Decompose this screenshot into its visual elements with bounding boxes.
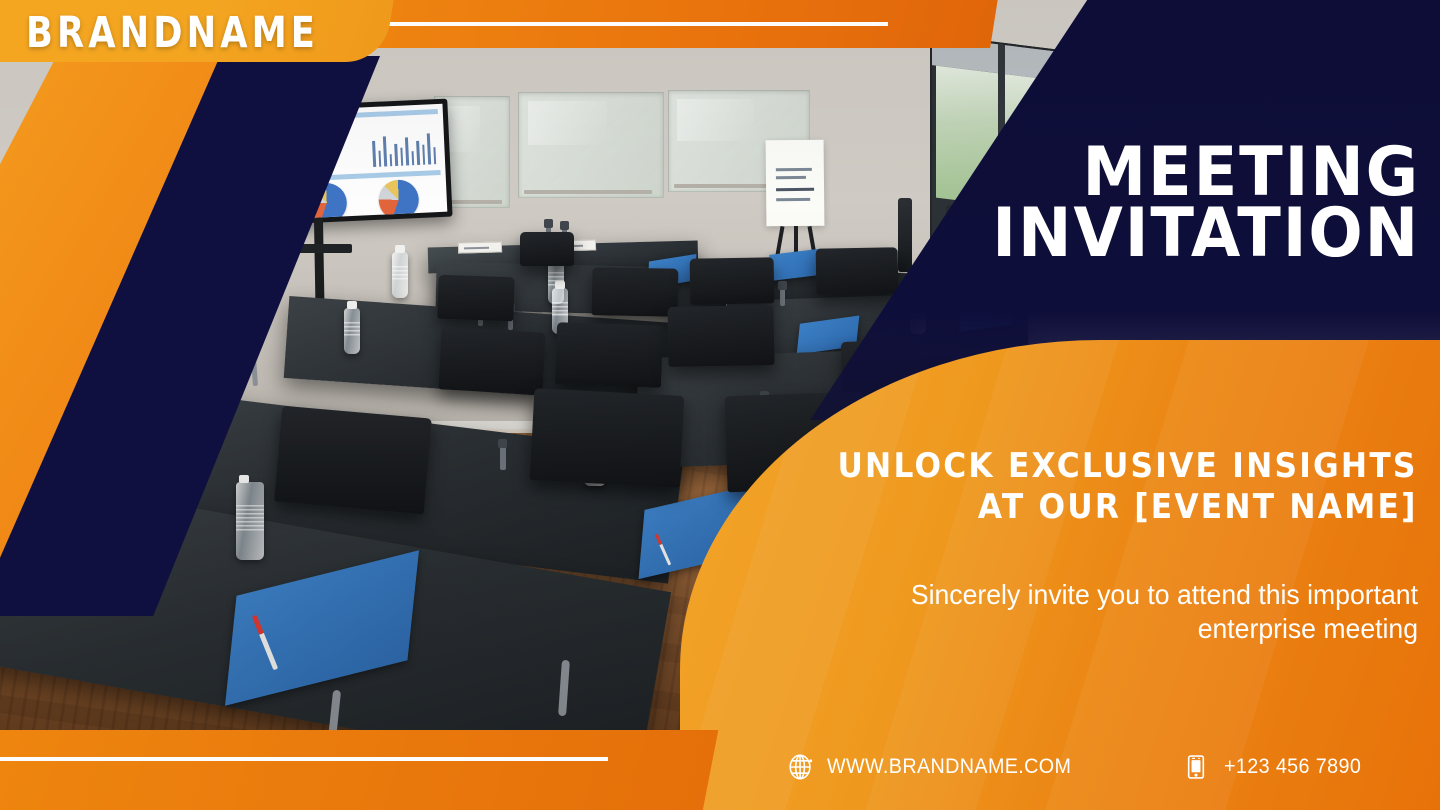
chair-8	[667, 305, 774, 367]
bottom-band-rule	[0, 757, 608, 761]
microphone-4a	[500, 446, 506, 470]
equipment-pole	[898, 198, 912, 272]
chair-6	[438, 327, 545, 394]
title-line-2: INVITATION	[992, 203, 1420, 264]
website-label: WWW.BRANDNAME.COM	[827, 755, 1071, 779]
water-bottle-3a	[344, 308, 360, 354]
nameplate-1	[458, 241, 502, 253]
flipchart-line-3	[776, 188, 814, 191]
chair-10	[274, 406, 432, 515]
headline-line-1: UNLOCK EXCLUSIVE INSIGHTS	[838, 446, 1418, 487]
globe-icon	[786, 752, 816, 782]
microphone-3c	[780, 288, 785, 306]
phone-contact[interactable]: +123 456 7890	[1183, 752, 1370, 782]
poster-title: MEETING INVITATION	[965, 142, 1420, 264]
water-bottle-2a	[392, 252, 408, 298]
invitation-poster: BRANDNAME MEETING INVITATION UNLOCK EXCL…	[0, 0, 1440, 810]
flipchart-line-4	[776, 198, 810, 201]
flipchart-board	[766, 140, 825, 227]
bottom-orange-band	[0, 730, 718, 810]
headline-line-2: AT OUR [EVENT NAME]	[838, 487, 1418, 528]
brand-name: BRANDNAME	[26, 8, 319, 58]
chair-2	[437, 275, 514, 322]
poster-subtext: Sincerely invite you to attend this impo…	[829, 578, 1418, 646]
chair-3	[592, 267, 679, 316]
footer-contacts: WWW.BRANDNAME.COM +123 456 7890	[680, 724, 1440, 810]
website-contact[interactable]: WWW.BRANDNAME.COM	[786, 752, 1087, 782]
chair-4	[690, 257, 775, 304]
water-bottle-front	[236, 482, 264, 560]
chair-11	[530, 388, 685, 488]
chair-7	[555, 322, 663, 388]
chair-1	[520, 232, 574, 266]
dashboard-bar-chart-2	[372, 126, 437, 167]
whiteboard-2	[518, 92, 664, 198]
mobile-phone-icon	[1183, 752, 1213, 782]
top-bar-rule	[388, 22, 888, 26]
flipchart-line-1	[776, 168, 812, 171]
dashboard-pie-3	[378, 179, 420, 221]
whiteboard-tray-2	[524, 190, 652, 194]
chair-5	[816, 247, 899, 294]
flipchart-line-2	[776, 176, 806, 179]
poster-headline: UNLOCK EXCLUSIVE INSIGHTS AT OUR [EVENT …	[787, 446, 1418, 529]
phone-label: +123 456 7890	[1224, 755, 1361, 779]
